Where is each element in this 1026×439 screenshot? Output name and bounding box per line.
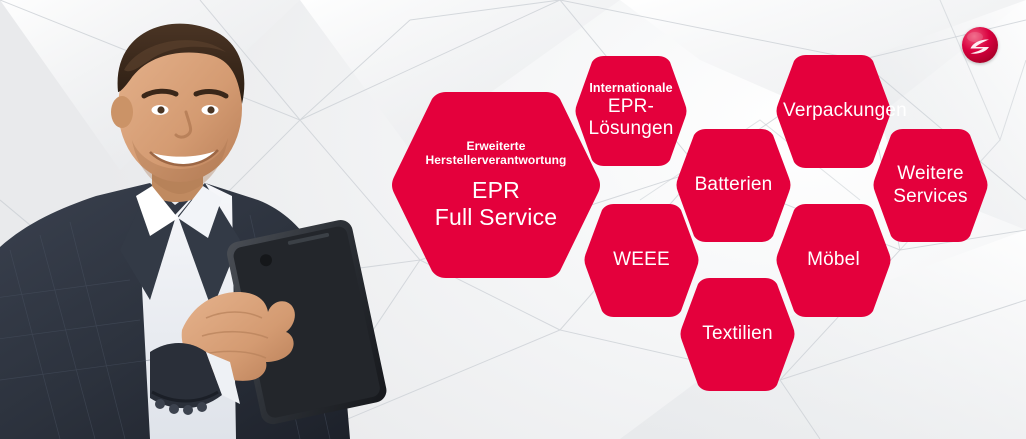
- hex-label: Textilien: [679, 323, 796, 345]
- hex-label: Möbel: [775, 249, 892, 271]
- hex-label: Verpackungen: [775, 100, 892, 122]
- hex-main-line-2: Lösungen: [582, 118, 680, 140]
- hex-main-line-1: Verpackungen: [783, 100, 884, 122]
- hex-sub-line-2: Herstellerverantwortung: [396, 153, 596, 168]
- hex-label: Weitere Services: [872, 163, 989, 208]
- hero-banner: Erweiterte Herstellerverantwortung EPR F…: [0, 0, 1026, 439]
- hex-main-line-1: Batterien: [683, 174, 784, 196]
- company-logo-icon[interactable]: [962, 27, 998, 63]
- hex-label: Erweiterte Herstellerverantwortung EPR F…: [388, 139, 604, 231]
- hex-main-line-1: Weitere: [880, 163, 981, 185]
- hex-textilien[interactable]: Textilien: [679, 276, 796, 393]
- hex-main-line-1: WEEE: [591, 249, 692, 271]
- hex-sub-line-1: Erweiterte: [396, 139, 596, 153]
- hex-main-line-1: EPR: [396, 177, 596, 204]
- hex-label: Batterien: [675, 174, 792, 196]
- hex-main-line-1: EPR-: [582, 96, 680, 118]
- hex-main-line-2: Services: [880, 186, 981, 208]
- hex-main-line-1: Textilien: [687, 323, 788, 345]
- hex-epr-full-service[interactable]: Erweiterte Herstellerverantwortung EPR F…: [388, 89, 604, 281]
- hex-label: WEEE: [583, 249, 700, 271]
- hex-main-line-2: Full Service: [396, 204, 596, 231]
- hex-main-line-1: Möbel: [783, 249, 884, 271]
- hex-sub-line-1: Internationale: [582, 81, 680, 96]
- logo-glyph-icon: [962, 27, 998, 63]
- businessman-photo: [0, 0, 400, 439]
- hex-label: Internationale EPR- Lösungen: [574, 81, 688, 141]
